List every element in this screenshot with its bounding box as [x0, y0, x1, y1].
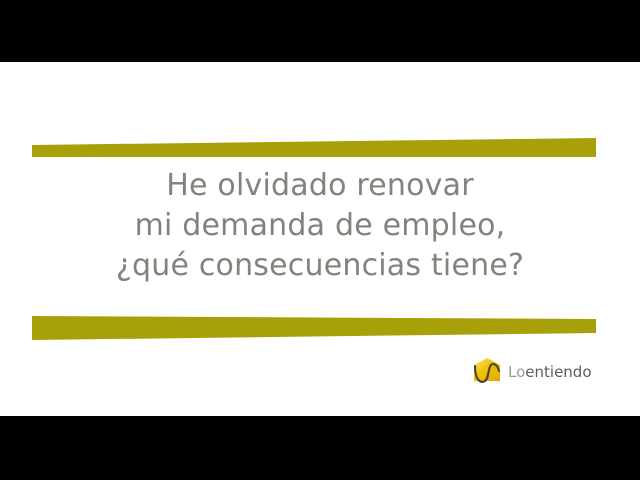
top-accent-wedge	[0, 132, 640, 162]
title-line-3: ¿qué consecuencias tiene?	[0, 246, 640, 286]
video-frame: He olvidado renovar mi demanda de empleo…	[0, 0, 640, 480]
slide-content: He olvidado renovar mi demanda de empleo…	[0, 62, 640, 416]
logo[interactable]: Loentiendo	[470, 352, 600, 392]
logo-text: Loentiendo	[508, 365, 592, 380]
letterbox-top	[0, 0, 640, 62]
title-line-2: mi demanda de empleo,	[0, 206, 640, 246]
logo-text-entiendo: entiendo	[525, 363, 591, 381]
logo-text-lo: Lo	[508, 363, 525, 381]
title-line-1: He olvidado renovar	[0, 166, 640, 206]
loentiendo-mark-icon	[470, 356, 504, 388]
bottom-accent-wedge	[0, 310, 640, 346]
letterbox-bottom	[0, 416, 640, 480]
page-title: He olvidado renovar mi demanda de empleo…	[0, 166, 640, 286]
